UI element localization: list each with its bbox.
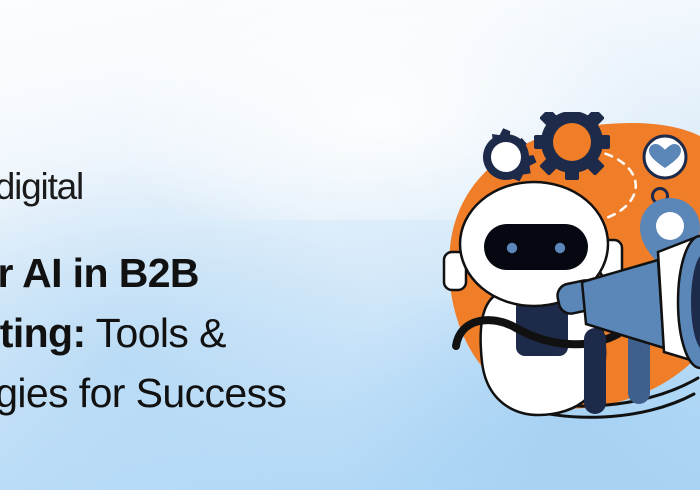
brand-logo-name: digital (0, 166, 83, 207)
robot-eye-left (507, 243, 517, 253)
headline-line-1-bold: ster AI in B2B (0, 250, 199, 296)
gear-small (534, 112, 610, 180)
gear-large (483, 128, 537, 181)
brand-logo[interactable]: dedigital (0, 168, 83, 205)
headline-line-3-regular: ategies for Success (0, 370, 286, 416)
headline-line-1: ster AI in B2B (0, 243, 410, 303)
robot-visor (484, 224, 588, 270)
robot-eye-right (555, 243, 565, 253)
headline-line-3: ategies for Success (0, 363, 410, 423)
headline-line-2: rketing: Tools & (0, 303, 410, 363)
page-title: ster AI in B2B rketing: Tools & ategies … (0, 243, 410, 423)
headline-line-2-regular: Tools & (86, 310, 226, 356)
banner-canvas: dedigital ster AI in B2B rketing: Tools … (0, 0, 700, 490)
robot-leg-left (584, 328, 606, 414)
heart-badge-icon (644, 136, 686, 178)
hero-illustration (432, 112, 700, 490)
headline-line-2-bold: rketing: (0, 310, 86, 356)
